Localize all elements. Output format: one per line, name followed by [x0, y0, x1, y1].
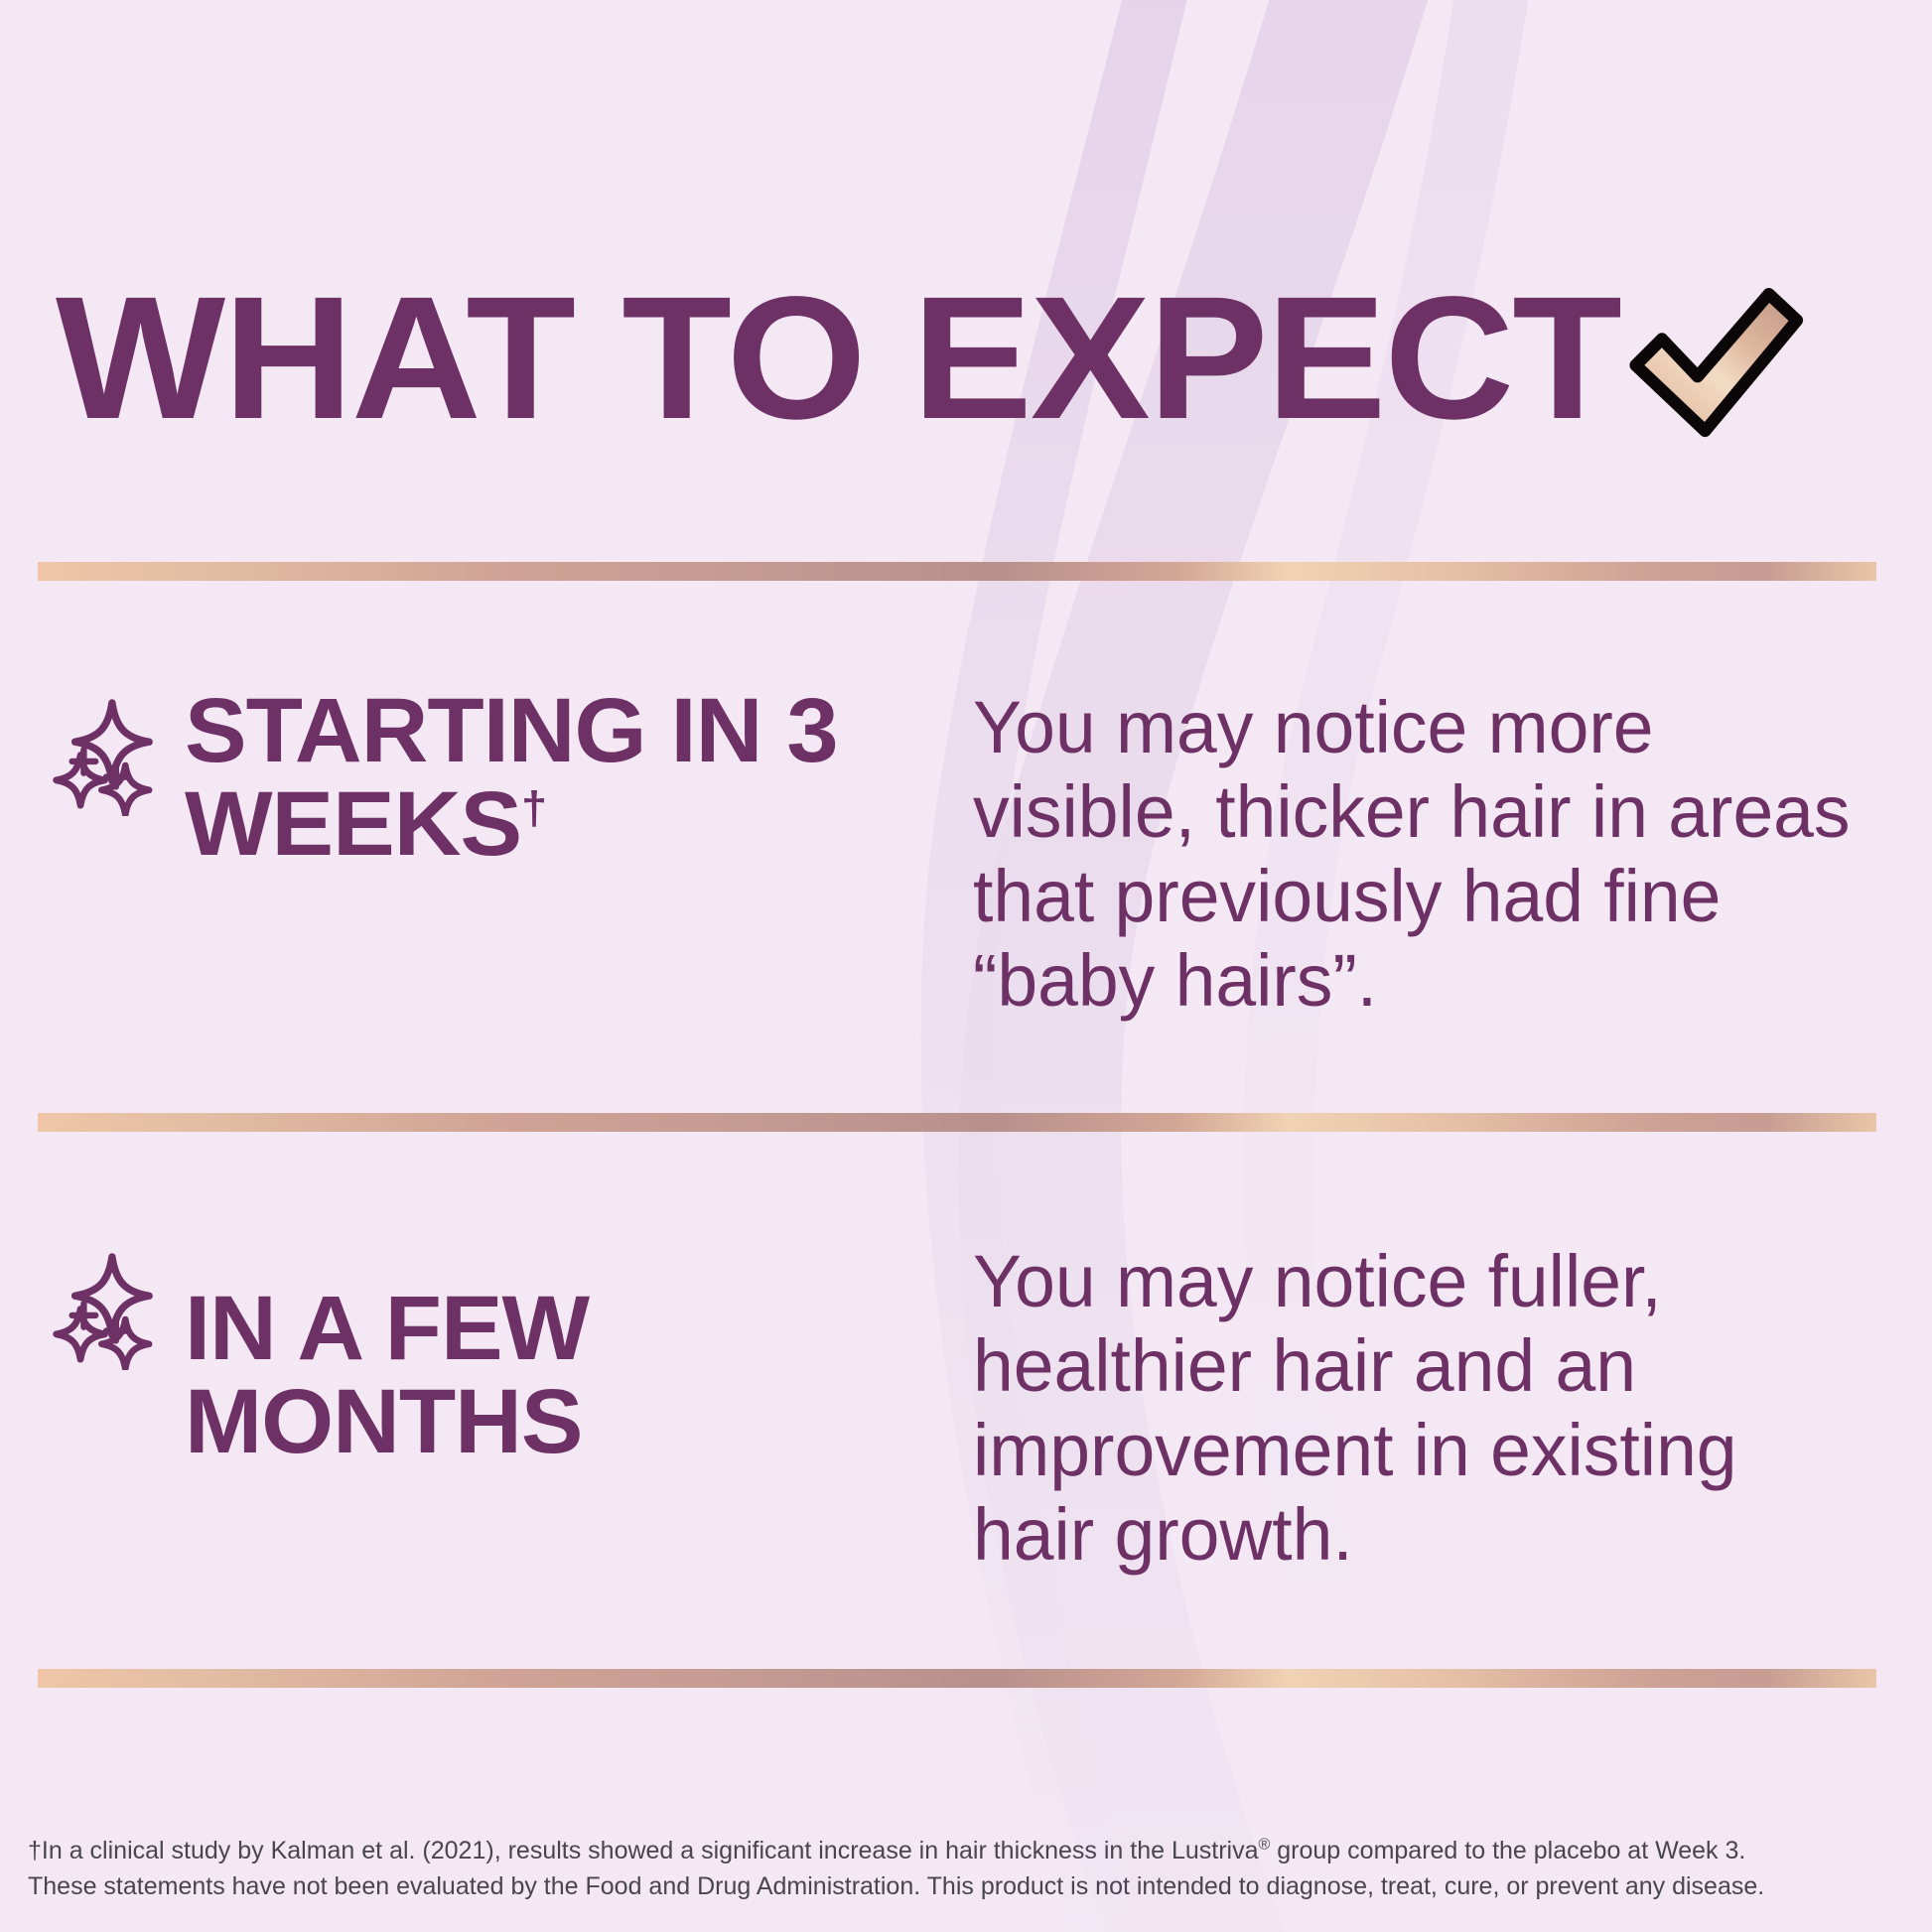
section-2-body: You may notice fuller, healthier hair an… — [973, 1239, 1875, 1577]
footnotes: †In a clinical study by Kalman et al. (2… — [28, 1833, 1904, 1905]
footnote-clinical-study: †In a clinical study by Kalman et al. (2… — [28, 1833, 1904, 1868]
section-2-heading: IN A FEW MONTHS — [185, 1283, 977, 1469]
footnote-dagger: † — [28, 1837, 42, 1864]
header: WHAT TO EXPECT — [56, 260, 1902, 459]
section-1-heading: STARTING IN 3 WEEKS† — [185, 685, 977, 872]
section-in-a-few-months: IN A FEW MONTHS You may notice fuller, h… — [38, 1239, 1884, 1577]
section-1-dagger: † — [521, 781, 546, 833]
registered-mark: ® — [1259, 1837, 1271, 1854]
section-2-left: IN A FEW MONTHS — [38, 1239, 961, 1469]
section-1-body: You may notice more visible, thicker hai… — [973, 685, 1875, 1023]
footnote-line1-text: In a clinical study by Kalman et al. (20… — [42, 1837, 1259, 1864]
check-icon — [1618, 279, 1807, 448]
divider-middle — [38, 1113, 1876, 1132]
section-starting-in-3-weeks: STARTING IN 3 WEEKS† You may notice more… — [38, 685, 1884, 1023]
footnote-fda-disclaimer: These statements have not been evaluated… — [28, 1868, 1904, 1904]
section-1-right: You may notice more visible, thicker hai… — [961, 685, 1884, 1023]
section-1-left: STARTING IN 3 WEEKS† — [38, 685, 961, 872]
sparkles-icon — [52, 695, 159, 816]
infographic-canvas: WHAT TO EXPECT — [0, 0, 1932, 1932]
section-1-heading-text: STARTING IN 3 WEEKS — [185, 680, 838, 875]
divider-bottom — [38, 1669, 1876, 1688]
section-2-right: You may notice fuller, healthier hair an… — [961, 1239, 1884, 1577]
divider-top — [38, 562, 1876, 581]
page-title: WHAT TO EXPECT — [56, 284, 1620, 434]
sparkles-icon — [52, 1249, 159, 1370]
footnote-line1-rest: group compared to the placebo at Week 3. — [1270, 1837, 1745, 1864]
